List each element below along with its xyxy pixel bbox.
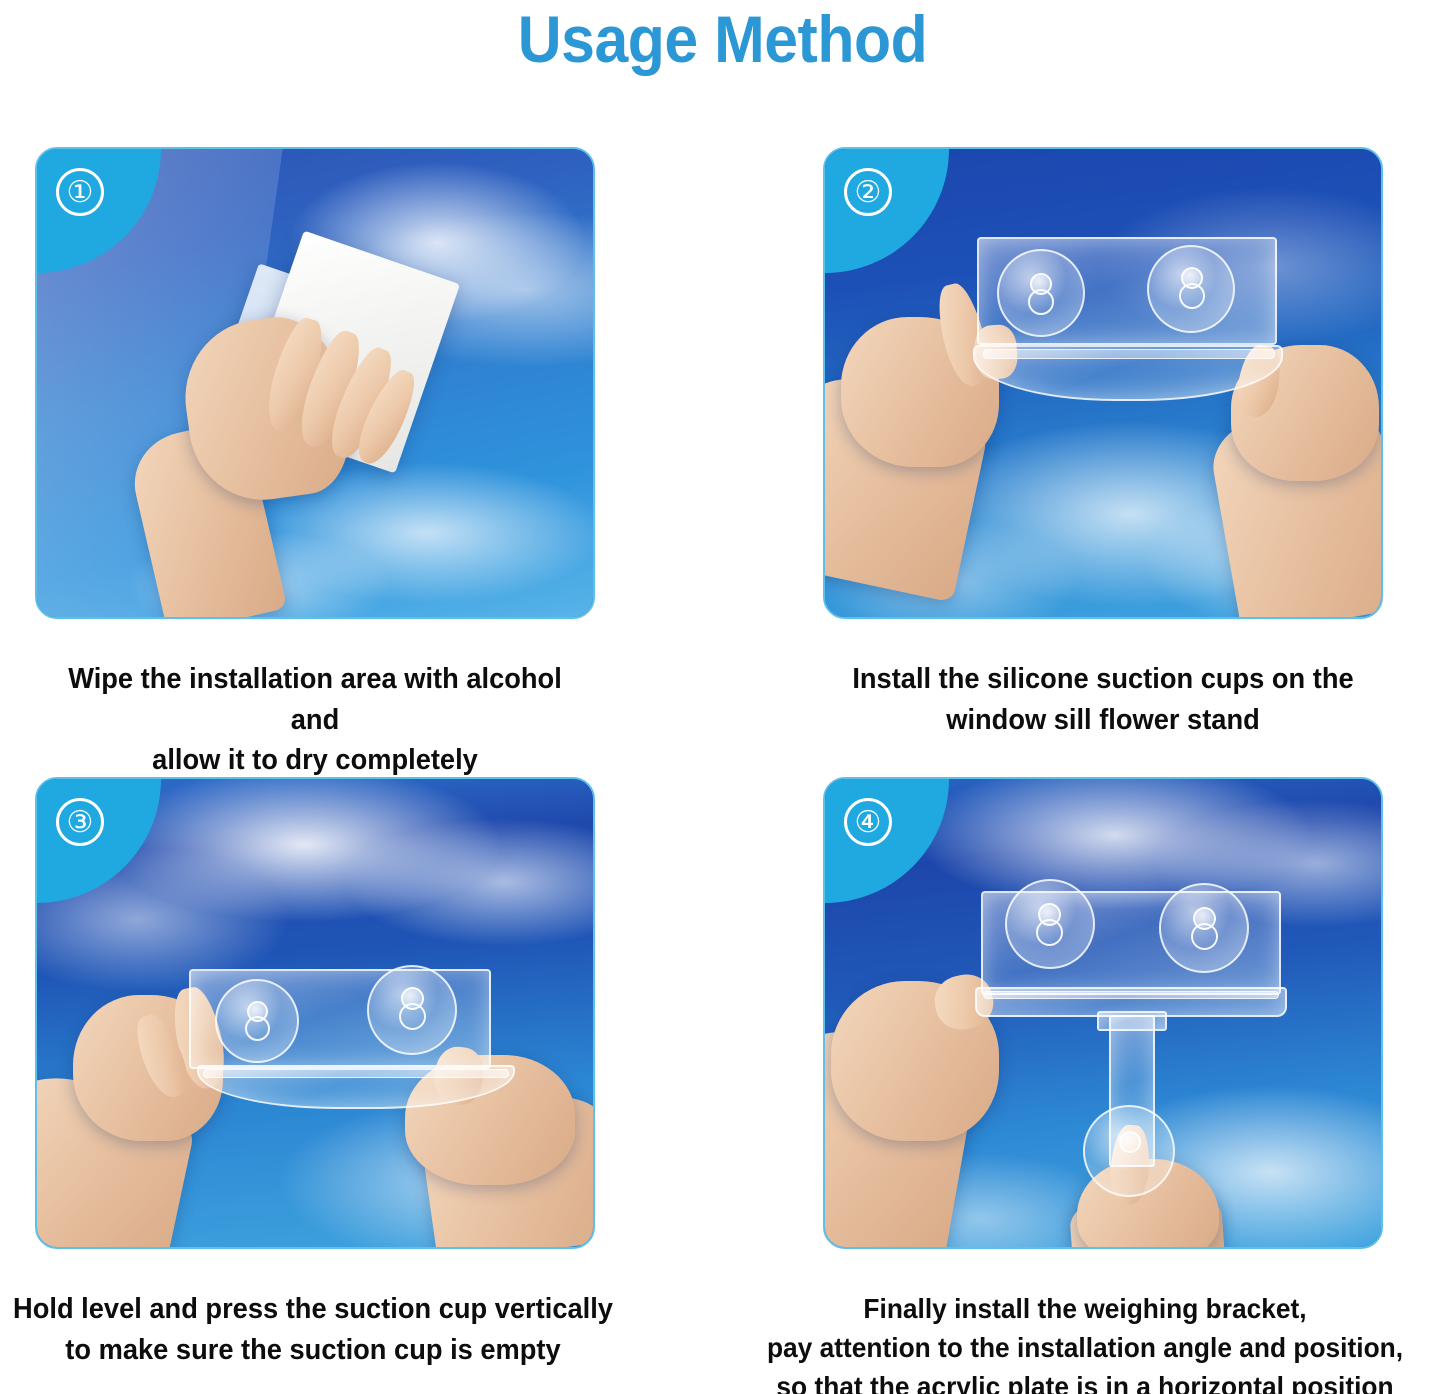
acrylic-shelf-edge-line: [203, 1069, 509, 1078]
page-title: Usage Method: [58, 2, 1387, 78]
acrylic-shelf-edge-line: [983, 991, 1279, 999]
suction-cup-left-ring: [1036, 919, 1063, 946]
suction-cup-bracket-nub: [1119, 1131, 1141, 1153]
suction-cup-right-ring: [1179, 283, 1205, 309]
usage-method-infographic: Usage Method ① Wipe the installation are…: [0, 0, 1445, 1394]
acrylic-shelf-edge-line: [983, 349, 1275, 359]
step-caption-4: Finally install the weighing bracket, pa…: [728, 1289, 1442, 1394]
step-card-4: ④ Finally install the weighing bracket, …: [823, 777, 1383, 1394]
step-caption-3: Hold level and press the suction cup ver…: [0, 1289, 642, 1370]
step-number-label: ③: [56, 798, 104, 846]
step-number-label: ①: [56, 168, 104, 216]
weighing-bracket-top-flange: [1097, 1011, 1167, 1031]
step-card-3: ③ Hold level and press the suction cup v…: [35, 777, 595, 1370]
suction-cup-left-ring: [245, 1016, 270, 1041]
suction-cup-left-ring: [1028, 289, 1054, 315]
suction-cup-right-ring: [1191, 923, 1218, 950]
step-photo-1: ①: [35, 147, 595, 619]
step-photo-4: ④: [823, 777, 1383, 1249]
step-photo-2: ②: [823, 147, 1383, 619]
step-photo-3: ③: [35, 777, 595, 1249]
step-caption-1: Wipe the installation area with alcohol …: [52, 659, 578, 781]
step-card-2: ② Install the silicone suction cups on t…: [823, 147, 1383, 740]
step-caption-2: Install the silicone suction cups on the…: [840, 659, 1366, 740]
suction-cup-right-ring: [399, 1003, 426, 1030]
step-card-1: ① Wipe the installation area with alcoho…: [35, 147, 595, 781]
step-number-label: ②: [844, 168, 892, 216]
step-number-label: ④: [844, 798, 892, 846]
